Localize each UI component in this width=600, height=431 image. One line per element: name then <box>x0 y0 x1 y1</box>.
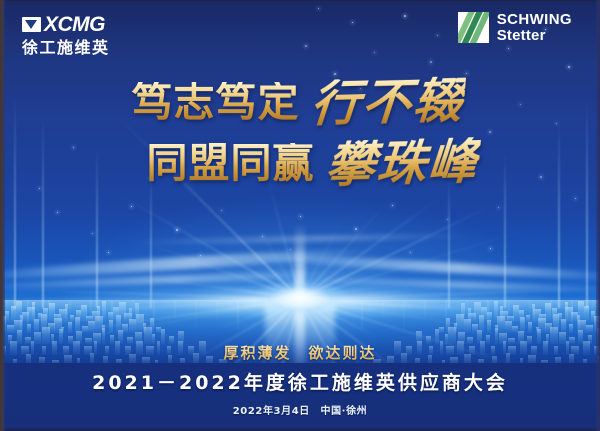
headline-line1-brush: 行不辍 <box>309 76 466 129</box>
star-particle <box>355 228 357 230</box>
star-particle <box>508 48 509 49</box>
building-silhouette <box>34 319 39 333</box>
star-particle <box>131 206 132 207</box>
star-particle <box>300 216 301 217</box>
headline-line2-block: 同盟同赢 <box>146 143 314 184</box>
star-particle <box>221 210 222 211</box>
frame-edge-left <box>0 0 5 431</box>
star-particle <box>437 35 438 36</box>
star-particle <box>290 249 291 250</box>
headline: 笃志笃定行不辍 同盟同赢攀珠峰 <box>0 78 600 188</box>
frame-edge-right <box>596 0 600 431</box>
frame-edge-bottom <box>0 427 600 431</box>
schwing-wordmark: SCHWING Stetter <box>497 12 572 44</box>
headline-line1-block: 笃志笃定 <box>131 82 299 123</box>
headline-line-1: 笃志笃定行不辍 <box>0 78 600 127</box>
triangle-in-square-icon <box>22 17 41 32</box>
schwing-line2: Stetter <box>497 28 572 44</box>
poster-canvas: XCMG 徐工施维英 SCHWING Stetter 笃志笃定行不辍 同盟同赢攀… <box>0 0 600 431</box>
star-particle <box>410 252 411 253</box>
star-particle <box>575 198 576 199</box>
star-particle <box>57 212 58 213</box>
headline-line2-brush: 攀珠峰 <box>324 137 481 190</box>
light-burst-core <box>240 275 360 321</box>
star-particle <box>374 52 375 53</box>
star-particle <box>498 207 499 208</box>
star-particle <box>305 45 307 47</box>
footer: 厚积薄发 欲达则达 2021－2022年度徐工施维英供应商大会 2022年3月4… <box>0 342 600 417</box>
footer-date-location: 2022年3月4日 中国·徐州 <box>0 402 600 417</box>
xcmg-schwing-logo: XCMG 徐工施维英 <box>22 14 110 56</box>
schwing-line1: SCHWING <box>497 12 572 28</box>
star-particle <box>430 61 432 63</box>
footer-event-title: 2021－2022年度徐工施维英供应商大会 <box>0 368 600 395</box>
star-particle <box>568 66 570 68</box>
building-silhouette <box>439 327 444 333</box>
star-particle <box>92 233 93 234</box>
xcmg-wordmark-row: XCMG <box>22 14 110 35</box>
schwing-stetter-logo: SCHWING Stetter <box>458 12 572 44</box>
star-particle <box>39 188 40 189</box>
star-particle <box>108 252 109 253</box>
green-diagonal-stripes-icon <box>458 12 489 43</box>
xcmg-wordmark: XCMG <box>44 14 105 35</box>
headline-line-2: 同盟同赢攀珠峰 <box>26 139 600 188</box>
star-particle <box>352 22 353 23</box>
star-particle <box>318 8 319 9</box>
building-silhouette <box>586 325 593 333</box>
footer-tagline: 厚积薄发 欲达则达 <box>0 342 600 363</box>
building-silhouette <box>561 319 566 333</box>
star-particle <box>392 205 393 206</box>
star-particle <box>404 15 406 17</box>
frame-edge-top <box>0 0 600 3</box>
star-particle <box>490 248 491 249</box>
xcmg-chinese-name: 徐工施维英 <box>22 40 110 56</box>
